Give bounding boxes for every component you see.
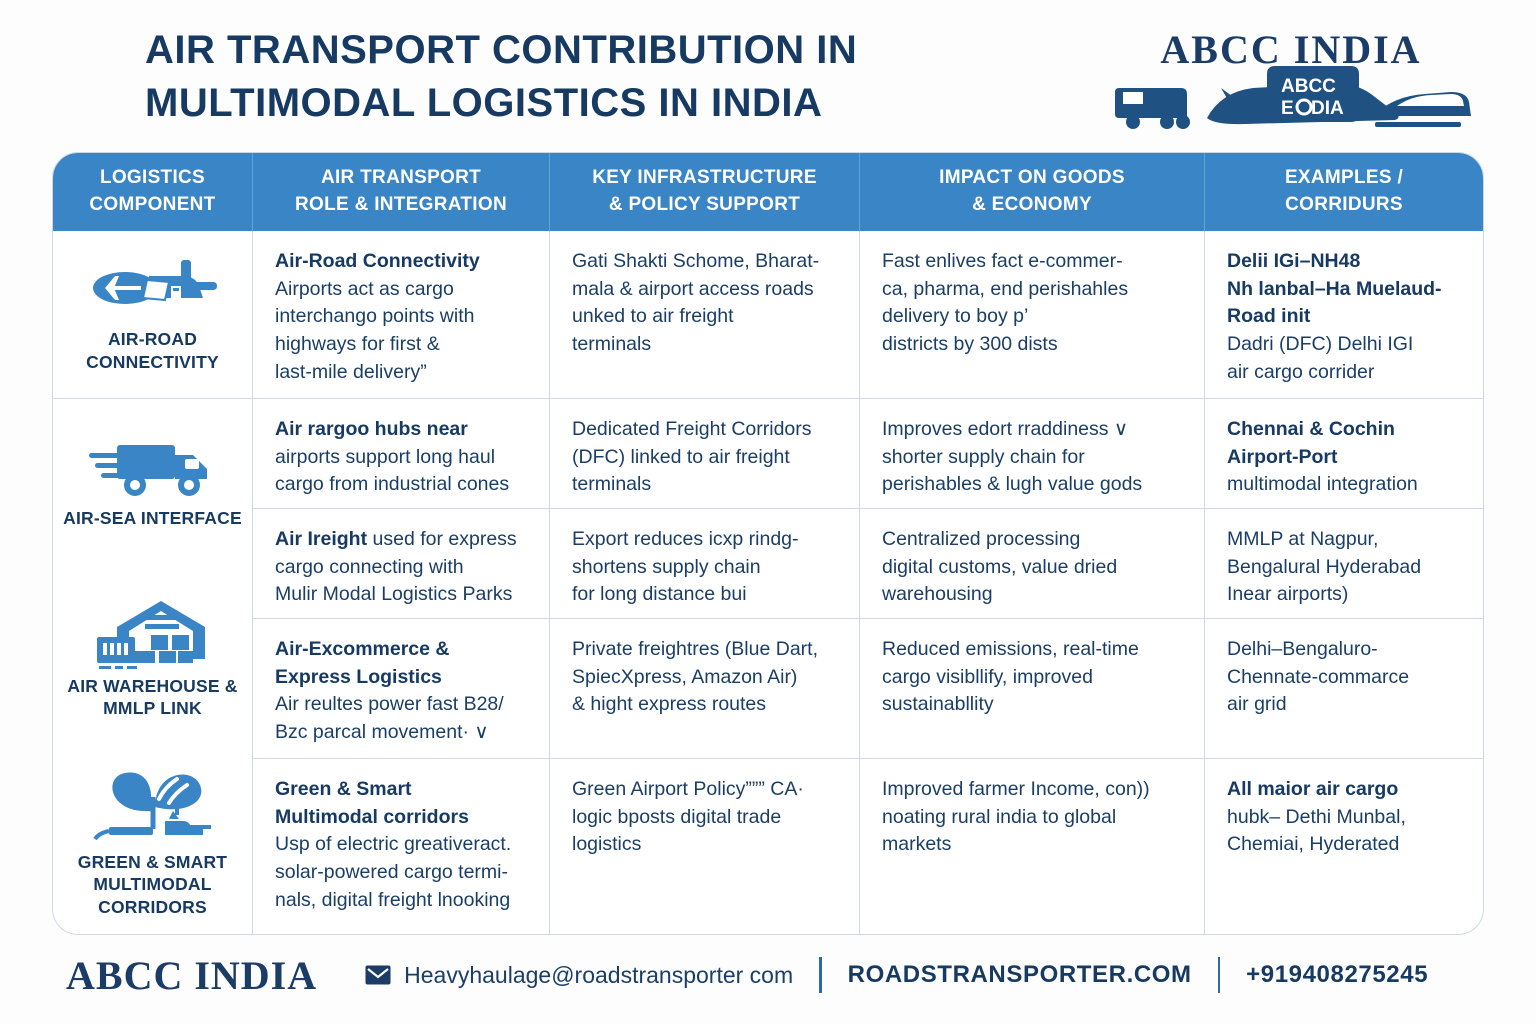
header-line-1: IMPACT ON GOODS [939, 165, 1125, 192]
cell-text: Reduced emissions, real-time cargo visib… [882, 636, 1184, 719]
column-examples-corridors: Delii IGi–NH48 Nh lanbal–Ha Muelaud- Roa… [1205, 231, 1484, 935]
footer-website[interactable]: ROADSTRANSPORTER.COM [848, 961, 1192, 989]
component-air-sea-interface: AIR-SEA INTERFACE [53, 399, 252, 569]
cell-bold-text: Delii IGi–NH48 Nh lanbal–Ha Muelaud- Roa… [1227, 250, 1442, 327]
component-label: AIR-ROAD CONNECTIVITY [57, 328, 248, 373]
cell-bold-text: Chennai & Cochin Airport-Port [1227, 418, 1395, 468]
header-line-2: & ECONOMY [972, 192, 1092, 219]
warehouse-icon [89, 599, 217, 669]
footer-email[interactable]: Heavyhaulage@roadstransporter com [365, 962, 793, 989]
table-cell: Improved farmer Income, con)) noating ru… [860, 759, 1204, 935]
cell-text: Delhi–Bengaluro- Chennate-commarce air g… [1227, 636, 1465, 719]
table-cell: Centralized processing digital customs, … [860, 509, 1204, 619]
footer-divider [1218, 957, 1221, 993]
footer: ABCC INDIA Heavyhaulage@roadstransporter… [52, 944, 1484, 1006]
delivery-truck-icon [89, 439, 217, 501]
cell-text: MMLP at Nagpur, Bengalural Hyderabad Ine… [1227, 526, 1465, 609]
airplane-truck-icon [89, 256, 217, 322]
envelope-icon [365, 965, 391, 985]
header-line-2: CORRIDURS [1285, 192, 1403, 219]
cell-text: Dadri (DFC) Delhi IGI air cargo corrider [1227, 333, 1413, 383]
green-plant-icon [89, 767, 217, 845]
header-line-2: COMPONENT [89, 192, 215, 219]
cell-text: Centralized processing digital customs, … [882, 526, 1184, 609]
table-cell: Green Airport Policy””” CA· logic bposts… [550, 759, 859, 935]
table-cell: Air-Road Connectivity Airports act as ca… [253, 231, 549, 399]
header: AIR TRANSPORT CONTRIBUTION IN MULTIMODAL… [0, 18, 1536, 143]
table-cell: All maior air cargo hubk– Dethi Munbal, … [1205, 759, 1484, 935]
table-cell: Delhi–Bengaluro- Chennate-commarce air g… [1205, 619, 1484, 759]
table-header-row: LOGISTICS COMPONENT AIR TRANSPORT ROLE &… [53, 153, 1483, 231]
title-line-1: AIR TRANSPORT CONTRIBUTION IN [145, 24, 1005, 77]
column-air-transport-role: Air-Road Connectivity Airports act as ca… [253, 231, 550, 935]
column-impact-on-goods: Fast enlives fact e-commer- ca, pharma, … [860, 231, 1205, 935]
cell-text: Usp of electric greativeract. solar-powe… [275, 833, 511, 910]
component-air-warehouse-mmlp: AIR WAREHOUSE & MMLP LINK [53, 569, 252, 749]
table-cell: Export reduces icxp rindg- shortens supp… [550, 509, 859, 619]
cell-bold-text: Air-Road Connectivity [275, 250, 480, 272]
table-cell: MMLP at Nagpur, Bengalural Hyderabad Ine… [1205, 509, 1484, 619]
cell-text: Air reultes power fast B28/ Bzc parcal m… [275, 693, 504, 743]
component-label: AIR WAREHOUSE & MMLP LINK [57, 675, 248, 720]
cell-text: Export reduces icxp rindg- shortens supp… [572, 526, 839, 609]
cell-text: Improves edort rraddiness ∨ shorter supp… [882, 416, 1184, 499]
cell-bold-text: Air-Excommerce & Express Logistics [275, 638, 450, 688]
cell-text: Dedicated Freight Corridors (DFC) linked… [572, 416, 839, 499]
table-cell: Delii IGi–NH48 Nh lanbal–Ha Muelaud- Roa… [1205, 231, 1484, 399]
cell-text: Private freightres (Blue Dart, SpiecXpre… [572, 636, 839, 719]
table-cell: Improves edort rraddiness ∨ shorter supp… [860, 399, 1204, 509]
cell-text: hubk– Dethi Munbal, Chemiai, Hyderated [1227, 806, 1406, 856]
abcc-india-logo: ABCC INDIA [1106, 30, 1476, 150]
title-line-2: MULTIMODAL LOGISTICS IN INDIA [145, 77, 1005, 130]
cell-text: Fast enlives fact e-commer- ca, pharma, … [882, 248, 1184, 359]
header-line-2: & POLICY SUPPORT [609, 192, 800, 219]
logo-vehicles-icon: ABCC E DIA [1111, 66, 1471, 132]
cell-bold-text: Air Ireight [275, 528, 367, 550]
logo-wordmark: ABCC INDIA [1160, 30, 1421, 70]
table-cell: Air-Excommerce & Express Logistics Air r… [253, 619, 549, 759]
page-title: AIR TRANSPORT CONTRIBUTION IN MULTIMODAL… [145, 18, 1005, 130]
table-cell: Air Ireight used for express cargo conne… [253, 509, 549, 619]
table-cell: Private freightres (Blue Dart, SpiecXpre… [550, 619, 859, 759]
column-header-air-transport-role: AIR TRANSPORT ROLE & INTEGRATION [253, 153, 550, 231]
footer-phone[interactable]: +919408275245 [1246, 961, 1428, 989]
component-label: AIR-SEA INTERFACE [63, 507, 242, 529]
column-header-examples-corridors: EXAMPLES / CORRIDURS [1205, 153, 1483, 231]
table-cell: Reduced emissions, real-time cargo visib… [860, 619, 1204, 759]
header-line-2: ROLE & INTEGRATION [295, 192, 507, 219]
footer-email-text: Heavyhaulage@roadstransporter com [404, 962, 793, 989]
table-cell: Dedicated Freight Corridors (DFC) linked… [550, 399, 859, 509]
cell-bold-text: All maior air cargo [1227, 778, 1398, 800]
cell-text: Airports act as cargo interchango points… [275, 278, 474, 383]
column-header-impact-on-goods: IMPACT ON GOODS & ECONOMY [860, 153, 1205, 231]
footer-divider [819, 957, 822, 993]
component-label: GREEN & SMART MULTIMODAL CORRIDORS [57, 851, 248, 918]
cell-text: Gati Shakti Schome, Bharat- mala & airpo… [572, 248, 839, 359]
cell-text: Green Airport Policy””” CA· logic bposts… [572, 776, 839, 859]
header-line-1: AIR TRANSPORT [321, 165, 481, 192]
comparison-table: LOGISTICS COMPONENT AIR TRANSPORT ROLE &… [52, 152, 1484, 935]
header-line-1: LOGISTICS [100, 165, 205, 192]
table-cell: Air rargoo hubs near airports support lo… [253, 399, 549, 509]
column-header-key-infrastructure: KEY INFRASTRUCTURE & POLICY SUPPORT [550, 153, 860, 231]
column-key-infrastructure: Gati Shakti Schome, Bharat- mala & airpo… [550, 231, 860, 935]
cell-text: multimodal integration [1227, 473, 1418, 495]
footer-brand: ABCC INDIA [66, 952, 317, 999]
logistics-component-column: AIR-ROAD CONNECTIVITY [53, 231, 253, 935]
cell-bold-text: Green & Smart Multimodal corridors [275, 778, 469, 828]
table-cell: Green & Smart Multimodal corridors Usp o… [253, 759, 549, 935]
component-air-road-connectivity: AIR-ROAD CONNECTIVITY [53, 231, 252, 399]
cell-bold-text: Air rargoo hubs near [275, 418, 468, 440]
svg-text:E: E [1281, 98, 1294, 119]
component-green-smart-corridors: GREEN & SMART MULTIMODAL CORRIDORS [53, 749, 252, 935]
svg-text:ABCC: ABCC [1281, 76, 1336, 97]
cell-text: Improved farmer Income, con)) noating ru… [882, 776, 1184, 859]
infographic-page: AIR TRANSPORT CONTRIBUTION IN MULTIMODAL… [0, 0, 1536, 1024]
svg-text:DIA: DIA [1311, 98, 1344, 119]
table-cell: Fast enlives fact e-commer- ca, pharma, … [860, 231, 1204, 399]
table-body: AIR-ROAD CONNECTIVITY [53, 231, 1483, 935]
table-cell: Chennai & Cochin Airport-Port multimodal… [1205, 399, 1484, 509]
column-header-logistics-component: LOGISTICS COMPONENT [53, 153, 253, 231]
cell-text: airports support long haul cargo from in… [275, 446, 509, 496]
header-line-1: EXAMPLES / [1285, 165, 1403, 192]
header-line-1: KEY INFRASTRUCTURE [592, 165, 817, 192]
data-columns: Air-Road Connectivity Airports act as ca… [253, 231, 1484, 935]
table-cell: Gati Shakti Schome, Bharat- mala & airpo… [550, 231, 859, 399]
